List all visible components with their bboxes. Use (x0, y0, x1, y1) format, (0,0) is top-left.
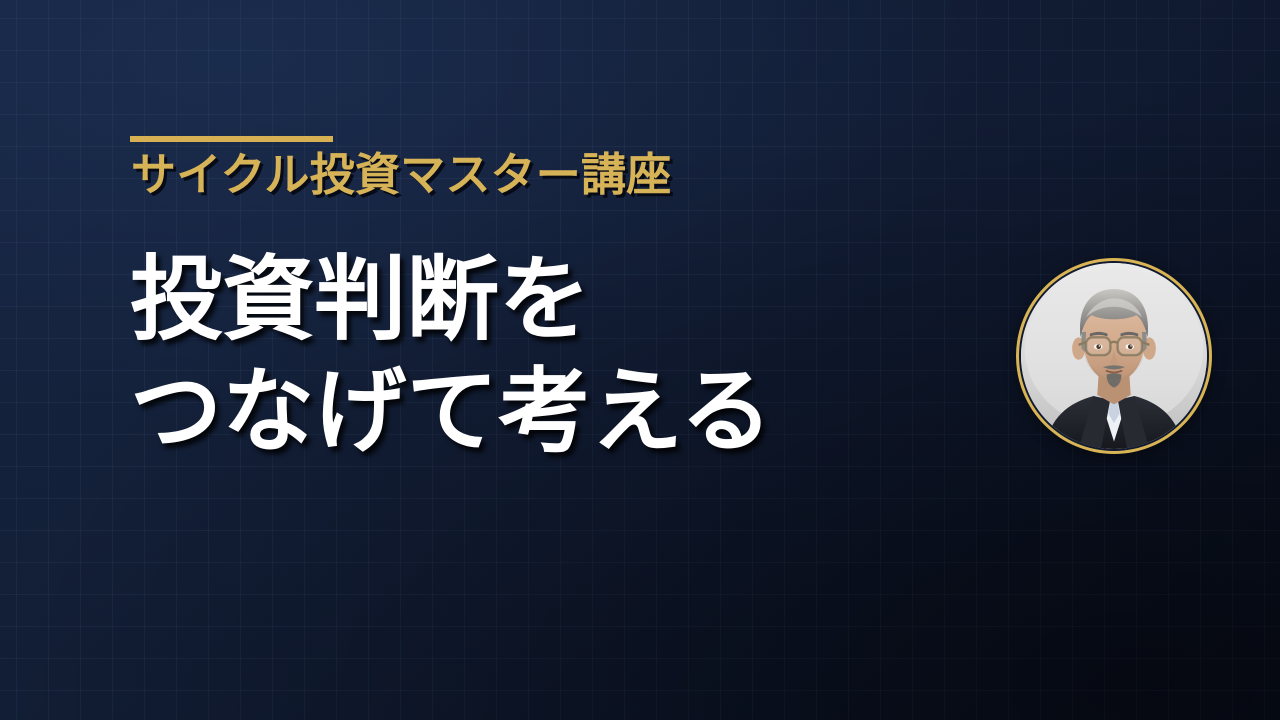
avatar-photo (1021, 263, 1207, 449)
course-eyebrow-label: サイクル投資マスター講座 (131, 152, 671, 197)
avatar-ring-gap (1019, 261, 1209, 451)
avatar (1016, 258, 1212, 454)
page-title: 投資判断を つなげて考える (130, 244, 773, 468)
gold-accent-rule (130, 136, 333, 142)
title-slide: サイクル投資マスター講座 投資判断を つなげて考える (0, 0, 1280, 720)
slide-content: サイクル投資マスター講座 投資判断を つなげて考える (130, 0, 1030, 720)
